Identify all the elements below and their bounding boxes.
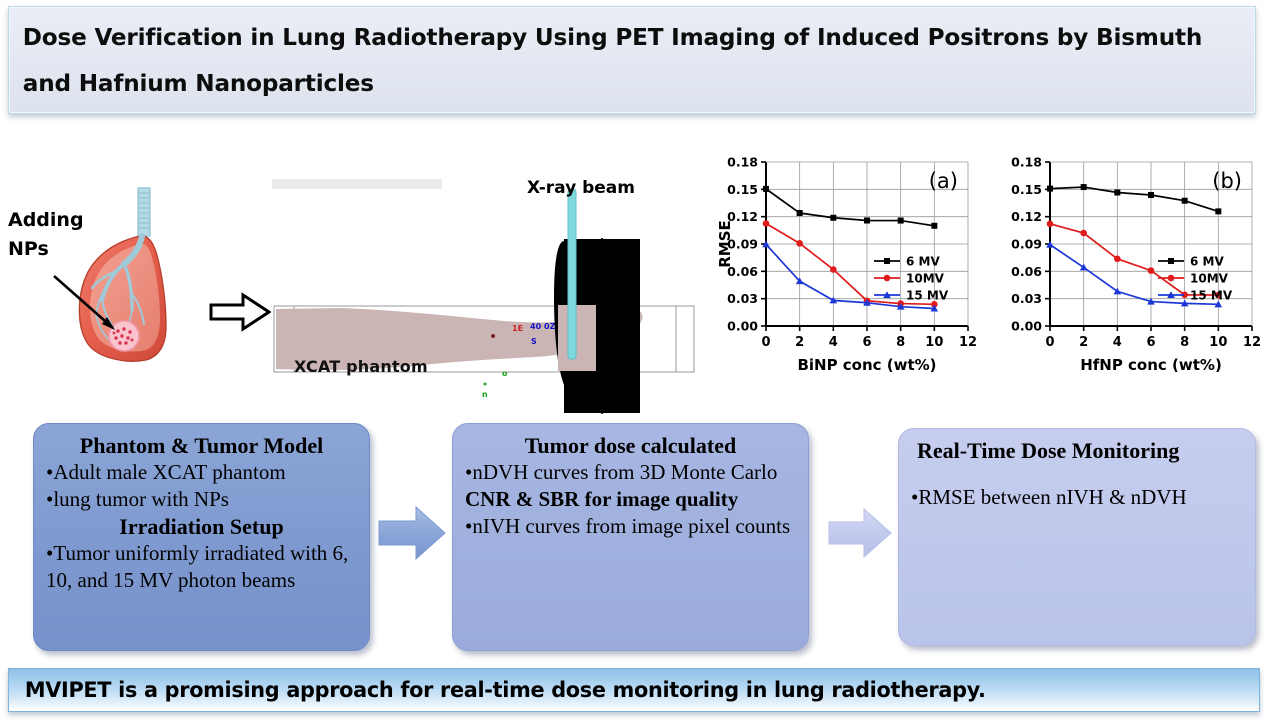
svg-text:0.06: 0.06 <box>1011 264 1042 279</box>
svg-text:0.00: 0.00 <box>1011 319 1042 334</box>
svg-text:8: 8 <box>1180 335 1189 350</box>
svg-text:4: 4 <box>829 335 838 350</box>
box3-spacer <box>911 464 1243 484</box>
flow-box-real-time-dose-monitoring[interactable]: Real-Time Dose Monitoring •RMSE between … <box>898 428 1256 646</box>
flow-box-phantom-tumor-model[interactable]: Phantom & Tumor Model •Adult male XCAT p… <box>33 423 370 651</box>
xray-beam <box>568 189 576 359</box>
svg-text:6 MV: 6 MV <box>906 255 940 269</box>
box1-bullet-3: •Tumor uniformly irradiated with 6, 10, … <box>46 540 357 594</box>
svg-text:BiNP conc (wt%): BiNP conc (wt%) <box>797 356 936 374</box>
svg-text:HfNP conc (wt%): HfNP conc (wt%) <box>1080 356 1222 374</box>
svg-text:6: 6 <box>1146 335 1155 350</box>
svg-text:12: 12 <box>1243 335 1261 350</box>
title-banner: Dose Verification in Lung Radiotherapy U… <box>8 6 1256 114</box>
xray-beam-label: X-ray beam <box>527 178 635 198</box>
box2-heading-1: Tumor dose calculated <box>465 432 796 459</box>
conclusion-banner: MVIPET is a promising approach for real-… <box>8 668 1260 712</box>
svg-text:4: 4 <box>1113 335 1122 350</box>
svg-text:0: 0 <box>1045 335 1054 350</box>
box2-heading-2: CNR & SBR for image quality <box>465 486 796 513</box>
svg-text:o: o <box>502 369 508 378</box>
svg-text:40: 40 <box>530 322 542 331</box>
flow-box-tumor-dose-calculated[interactable]: Tumor dose calculated •nDVH curves from … <box>452 423 809 651</box>
xcat-phantom-panel: X-ray beam 1E 40 0Z S o n <box>272 179 702 414</box>
svg-text:0.15: 0.15 <box>1011 182 1042 197</box>
page-title: Dose Verification in Lung Radiotherapy U… <box>9 14 1236 106</box>
box2-bullet-1: •nDVH curves from 3D Monte Carlo <box>465 459 796 486</box>
svg-text:S: S <box>531 337 537 346</box>
svg-text:0Z: 0Z <box>544 322 556 331</box>
box3-bullet-1: •RMSE between nIVH & nDVH <box>911 484 1243 511</box>
svg-text:10: 10 <box>925 335 943 350</box>
svg-text:(b): (b) <box>1212 169 1242 193</box>
lung-illustration <box>52 184 192 369</box>
svg-text:0.18: 0.18 <box>727 155 758 170</box>
svg-text:0.09: 0.09 <box>1011 237 1042 252</box>
svg-text:12: 12 <box>959 335 977 350</box>
xcat-phantom-label: XCAT phantom <box>294 357 428 376</box>
chart-b-hfnp: 0246810120.000.030.060.090.120.150.18HfN… <box>994 140 1280 390</box>
svg-text:2: 2 <box>1079 335 1088 350</box>
svg-text:1E: 1E <box>512 324 523 333</box>
svg-text:0.00: 0.00 <box>727 319 758 334</box>
svg-text:10: 10 <box>1209 335 1227 350</box>
box1-heading-2: Irradiation Setup <box>46 513 357 540</box>
svg-text:10MV: 10MV <box>1190 272 1229 286</box>
svg-text:0.03: 0.03 <box>1011 291 1042 306</box>
box1-bullet-1: •Adult male XCAT phantom <box>46 459 357 486</box>
svg-text:n: n <box>482 390 488 399</box>
svg-text:8: 8 <box>896 335 905 350</box>
svg-text:2: 2 <box>795 335 804 350</box>
svg-text:0: 0 <box>761 335 770 350</box>
svg-text:0.12: 0.12 <box>1011 209 1042 224</box>
svg-text:15 MV: 15 MV <box>1190 289 1233 303</box>
svg-text:10MV: 10MV <box>906 272 945 286</box>
svg-text:RMSE: RMSE <box>716 220 734 268</box>
svg-text:6 MV: 6 MV <box>1190 255 1224 269</box>
box2-bullet-2: •nIVH curves from image pixel counts <box>465 513 796 540</box>
illustration-area: Adding NPs <box>0 114 1280 414</box>
svg-text:0.15: 0.15 <box>727 182 758 197</box>
box1-bullet-2: •lung tumor with NPs <box>46 486 357 513</box>
phantom-graphic: 1E 40 0Z S o n <box>272 179 702 414</box>
svg-text:0.03: 0.03 <box>727 291 758 306</box>
flow-arrow-1-icon <box>376 502 448 564</box>
svg-text:0.18: 0.18 <box>1011 155 1042 170</box>
flow-arrow-2-icon <box>826 505 894 561</box>
svg-text:(a): (a) <box>929 169 958 193</box>
chart-a-binp: 0246810120.000.030.060.090.120.150.18BiN… <box>702 140 990 390</box>
svg-text:6: 6 <box>862 335 871 350</box>
box1-heading-1: Phantom & Tumor Model <box>46 432 357 459</box>
conclusion-text: MVIPET is a promising approach for real-… <box>9 678 986 702</box>
box3-heading-1: Real-Time Dose Monitoring <box>911 437 1243 464</box>
svg-text:15 MV: 15 MV <box>906 289 949 303</box>
process-arrow-icon <box>209 292 271 332</box>
